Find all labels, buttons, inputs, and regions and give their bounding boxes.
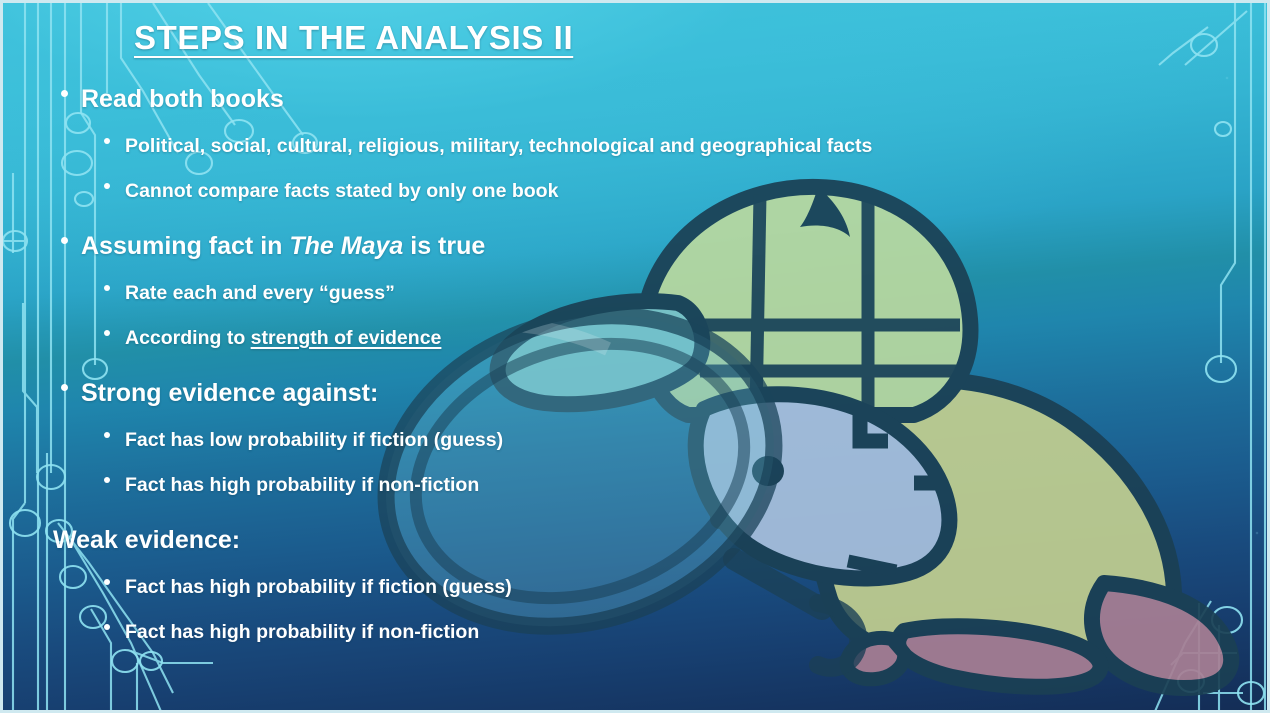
bullet-level1-label: Weak evidence: bbox=[53, 526, 240, 554]
bullet-dot-icon bbox=[61, 237, 68, 244]
heading-part-italic-title: The Maya bbox=[289, 232, 403, 260]
heading-part-suffix: is true bbox=[403, 232, 485, 260]
slide-body: Read both books Political, social, cultu… bbox=[3, 75, 1103, 655]
bullet-level2-label: Political, social, cultural, religious, … bbox=[125, 135, 872, 157]
spacer bbox=[3, 214, 1103, 222]
bullet-level2-label-prefix: According to bbox=[125, 327, 251, 349]
bullet-dot-icon bbox=[61, 384, 68, 391]
spacer bbox=[3, 361, 1103, 369]
bullet-level2-label: Fact has low probability if fiction (gue… bbox=[125, 429, 503, 451]
bullet-dot-icon bbox=[104, 285, 110, 291]
bullet-level2-low-prob-fiction: Fact has low probability if fiction (gue… bbox=[3, 418, 1103, 463]
bullet-level2-label: Rate each and every “guess” bbox=[125, 282, 395, 304]
bullet-level2-according-to-strength: According to strength of evidence bbox=[3, 316, 1103, 361]
bullet-level1-assuming-fact: Assuming fact in The Maya is true bbox=[3, 222, 1103, 271]
bullet-level1-label: Read both books bbox=[81, 85, 284, 113]
bullet-dot-icon bbox=[61, 90, 68, 97]
bullet-level2-label: Fact has high probability if non-fiction bbox=[125, 621, 479, 643]
bullet-dot-icon bbox=[104, 138, 110, 144]
bullet-level2-weak-high-prob-nonfiction: Fact has high probability if non-fiction bbox=[3, 610, 1103, 655]
bullet-level1-weak-evidence: Weak evidence: bbox=[3, 516, 1103, 565]
bullet-dot-icon bbox=[104, 579, 110, 585]
bullet-dot-icon bbox=[104, 330, 110, 336]
bullet-level2-label: Fact has high probability if fiction (gu… bbox=[125, 576, 512, 598]
bullet-level2-label: Cannot compare facts stated by only one … bbox=[125, 180, 558, 202]
bullet-level2-high-prob-nonfiction: Fact has high probability if non-fiction bbox=[3, 463, 1103, 508]
bullet-dot-icon bbox=[104, 183, 110, 189]
bullet-dot-icon bbox=[104, 624, 110, 630]
bullet-level2-label: Fact has high probability if non-fiction bbox=[125, 474, 479, 496]
bullet-level2-rate-each-guess: Rate each and every “guess” bbox=[3, 271, 1103, 316]
bullet-level1-label: Strong evidence against: bbox=[81, 379, 378, 407]
heading-part-prefix: Assuming fact in bbox=[81, 232, 289, 260]
presentation-slide: STEPS IN THE ANALYSIS II Read both books… bbox=[0, 0, 1270, 713]
bullet-dot-icon bbox=[104, 477, 110, 483]
bullet-dot-icon bbox=[104, 432, 110, 438]
bullet-level1-read-both-books: Read both books bbox=[3, 75, 1103, 124]
bullet-level2-label-underlined: strength of evidence bbox=[251, 327, 442, 349]
spacer bbox=[3, 508, 1103, 516]
bullet-level2-facts-list: Political, social, cultural, religious, … bbox=[3, 124, 1103, 169]
bullet-level2-weak-high-prob-fiction: Fact has high probability if fiction (gu… bbox=[3, 565, 1103, 610]
bullet-level2-cannot-compare: Cannot compare facts stated by only one … bbox=[3, 169, 1103, 214]
bullet-level1-strong-evidence-against: Strong evidence against: bbox=[3, 369, 1103, 418]
slide-title: STEPS IN THE ANALYSIS II bbox=[134, 19, 573, 57]
